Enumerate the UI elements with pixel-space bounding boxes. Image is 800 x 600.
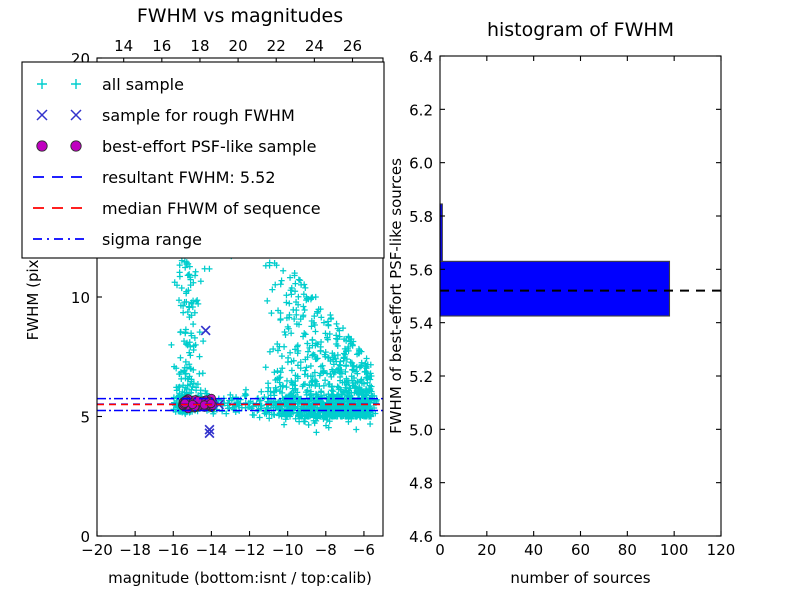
svg-text:20: 20 [477,541,496,559]
svg-text:−14: −14 [196,541,228,559]
svg-text:22: 22 [267,37,286,55]
legend-label: all sample [102,75,184,94]
svg-text:24: 24 [305,37,324,55]
svg-text:6.2: 6.2 [409,101,433,119]
svg-text:4.6: 4.6 [409,528,433,546]
svg-text:14: 14 [114,37,133,55]
matplotlib-figure: FWHM vs magnitudes−20−18−16−14−12−10−8−6… [0,0,800,600]
svg-text:−16: −16 [157,541,189,559]
svg-text:5.2: 5.2 [409,368,433,386]
svg-text:4.8: 4.8 [409,475,433,493]
scatter-xlabel: magnitude (bottom:isnt / top:calib) [108,569,372,587]
svg-text:5.6: 5.6 [409,261,433,279]
histogram-ylabel: FWHM of best-effort PSF-like sources [387,158,405,434]
svg-text:−6: −6 [353,541,375,559]
legend-label: sample for rough FWHM [102,106,295,125]
svg-text:26: 26 [343,37,362,55]
legend-label: best-effort PSF-like sample [102,137,316,156]
svg-text:0: 0 [435,541,445,559]
legend-label: resultant FWHM: 5.52 [102,168,276,187]
legend-box [22,62,384,258]
svg-text:60: 60 [571,541,590,559]
svg-text:80: 80 [618,541,637,559]
scatter-ylabel: FWHM (pix) [24,254,42,341]
svg-text:5.4: 5.4 [409,315,433,333]
legend-label: sigma range [102,230,202,249]
svg-text:6.4: 6.4 [409,48,433,66]
svg-text:6.0: 6.0 [409,155,433,173]
circle-icon [71,141,81,151]
svg-text:−10: −10 [272,541,304,559]
svg-text:0: 0 [80,528,90,546]
figure-canvas: FWHM vs magnitudes−20−18−16−14−12−10−8−6… [0,0,800,600]
svg-text:−8: −8 [315,541,337,559]
circle-icon [37,141,47,151]
svg-text:100: 100 [660,541,689,559]
svg-text:10: 10 [71,289,90,307]
svg-text:5.8: 5.8 [409,208,433,226]
svg-text:120: 120 [707,541,736,559]
svg-text:5: 5 [80,409,90,427]
svg-text:20: 20 [229,37,248,55]
svg-text:5.0: 5.0 [409,421,433,439]
legend: all samplesample for rough FWHMbest-effo… [22,62,384,258]
histogram-title: histogram of FWHM [487,19,674,41]
svg-text:16: 16 [152,37,171,55]
histogram-bar [440,261,669,316]
svg-text:18: 18 [190,37,209,55]
scatter-title: FWHM vs magnitudes [137,5,343,27]
svg-text:−18: −18 [119,541,151,559]
svg-text:40: 40 [524,541,543,559]
legend-label: median FHWM of sequence [102,199,321,218]
svg-text:−12: −12 [234,541,266,559]
histogram-xlabel: number of sources [510,569,650,587]
